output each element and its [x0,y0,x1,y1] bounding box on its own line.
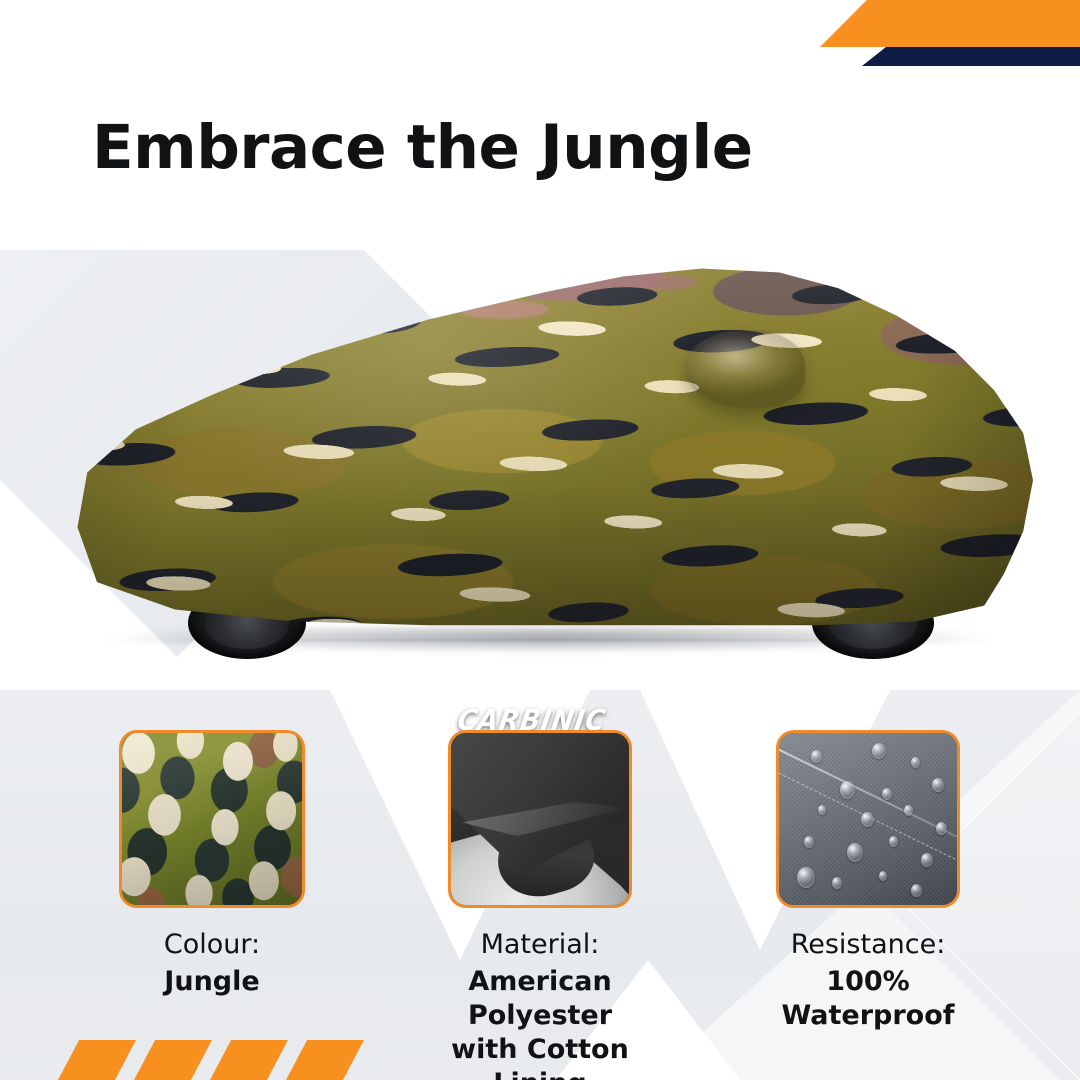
feature-value-line1: 100% [781,965,954,999]
feature-title: Colour: [164,928,260,962]
feature-value-line1: American Polyester [420,965,660,1033]
cover-shading [58,245,1033,637]
poster-canvas: Embrace the Jungle CARBINIC Colour: J [0,0,1080,1080]
water-droplet-icon [936,822,947,835]
material-swatch-thumbnail [448,730,632,908]
feature-caption: Colour: Jungle [164,928,260,999]
feature-caption: Material: American Polyester with Cotton… [420,928,660,1080]
feature-value-line2: Waterproof [781,999,954,1033]
water-droplet-icon [911,884,922,897]
feature-caption: Resistance: 100% Waterproof [781,928,954,1033]
orange-corner-band [820,0,1080,47]
swatch-shading [122,733,302,905]
feature-card-material: Material: American Polyester with Cotton… [420,730,660,1080]
car-cover [58,245,1033,637]
colour-swatch-thumbnail [119,730,305,908]
feature-card-colour: Colour: Jungle [92,730,332,999]
water-droplet-icon [904,805,913,816]
water-droplet-icon [847,843,863,862]
water-droplet-icon [861,812,874,827]
page-title: Embrace the Jungle [92,112,753,183]
feature-value-line2: with Cotton Lining [420,1033,660,1080]
feature-value: Jungle [164,965,260,999]
feature-title: Resistance: [781,928,954,962]
side-mirror-bulge [685,330,805,408]
water-droplet-icon [911,757,920,768]
water-droplet-icon [804,836,814,848]
water-droplet-icon [797,867,815,888]
water-droplet-icon [932,778,944,792]
hero-product-image: CARBINIC [40,235,1050,675]
feature-list: Colour: Jungle Material: American Polyes… [0,730,1080,1050]
water-droplet-icon [879,871,887,881]
water-droplet-icon [872,743,886,759]
water-droplet-icon [840,781,855,799]
navy-corner-band [862,47,1080,66]
resistance-swatch-thumbnail [776,730,960,908]
feature-card-resistance: Resistance: 100% Waterproof [748,730,988,1033]
feature-title: Material: [420,928,660,962]
